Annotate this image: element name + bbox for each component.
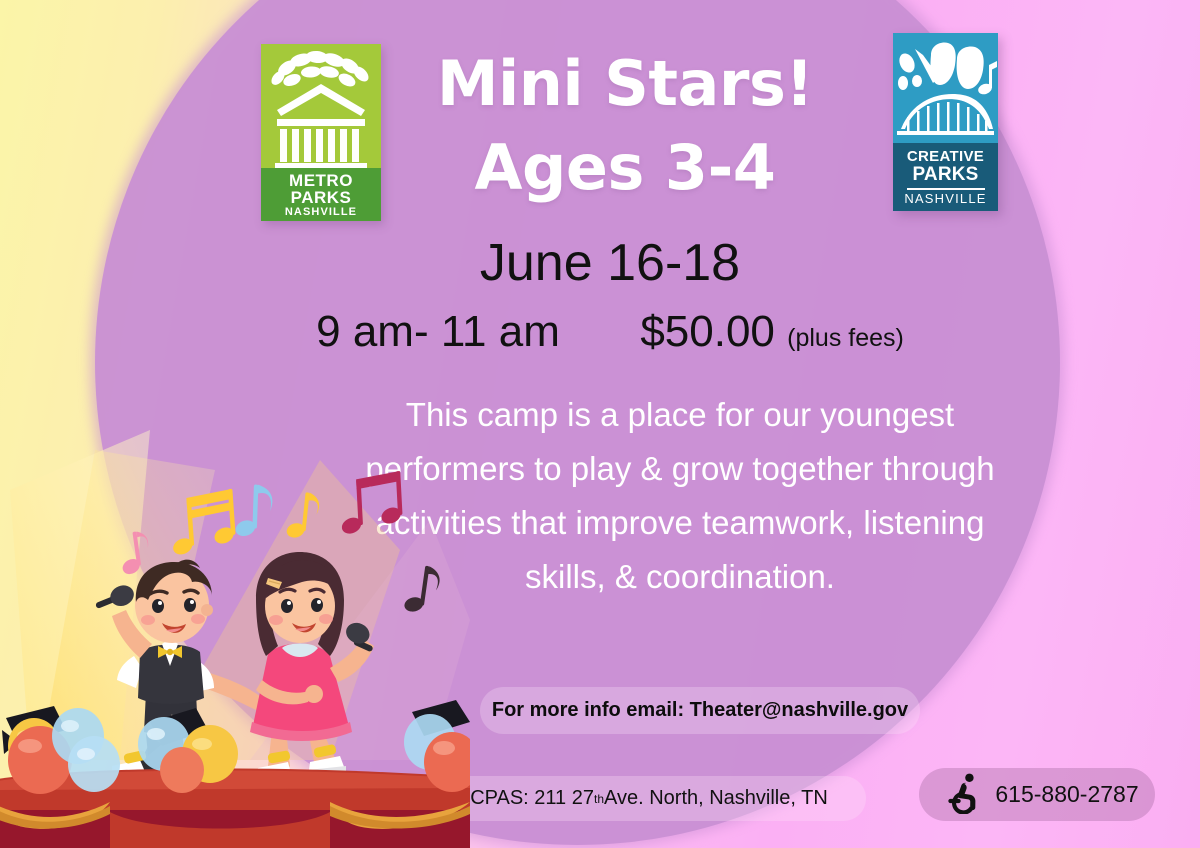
- metro-parks-logo: METRO PARKS NASHVILLE: [261, 44, 381, 221]
- creative-parks-wordmark: CREATIVE PARKS NASHVILLE: [893, 143, 998, 211]
- accessible-icon: [941, 770, 985, 820]
- metro-parks-wordmark: METRO PARKS NASHVILLE: [261, 168, 381, 221]
- page-title: Mini Stars! Ages 3-4: [385, 42, 865, 210]
- camp-dates: June 16-18: [300, 233, 920, 293]
- camp-time: 9 am- 11 am: [316, 307, 560, 356]
- creative-line-2: PARKS: [912, 165, 978, 185]
- address-prefix: CPAS: 211 27: [470, 787, 594, 810]
- creative-emblem-icon: [893, 33, 998, 143]
- kids-singing-illustration: [0, 430, 470, 848]
- address-suffix: Ave. North, Nashville, TN: [604, 787, 828, 810]
- metro-line-1: METRO: [289, 172, 353, 189]
- creative-line-3: NASHVILLE: [904, 192, 986, 206]
- creative-divider: [907, 188, 985, 190]
- phone-number: 615-880-2787: [995, 781, 1138, 808]
- email-info-text: For more info email: Theater@nashville.g…: [492, 699, 908, 722]
- headline-line-1: Mini Stars!: [385, 42, 865, 126]
- flyer-canvas: METRO PARKS NASHVILLE: [0, 0, 1200, 848]
- creative-parks-logo: CREATIVE PARKS NASHVILLE: [893, 33, 998, 211]
- metro-line-2: PARKS: [291, 189, 352, 206]
- metro-line-3: NASHVILLE: [285, 206, 357, 219]
- email-info-badge[interactable]: For more info email: Theater@nashville.g…: [480, 687, 920, 734]
- metro-emblem-icon: [261, 44, 381, 168]
- address-badge: CPAS: 211 27th Ave. North, Nashville, TN: [432, 776, 866, 821]
- phone-badge[interactable]: 615-880-2787: [919, 768, 1155, 821]
- headline-line-2: Ages 3-4: [385, 126, 865, 210]
- camp-time-price: 9 am- 11 am $50.00 (plus fees): [280, 305, 940, 365]
- camp-price-note: (plus fees): [787, 324, 904, 352]
- creative-line-1: CREATIVE: [907, 149, 984, 165]
- address-ordinal-suffix: th: [594, 792, 604, 806]
- camp-price: $50.00: [640, 307, 775, 356]
